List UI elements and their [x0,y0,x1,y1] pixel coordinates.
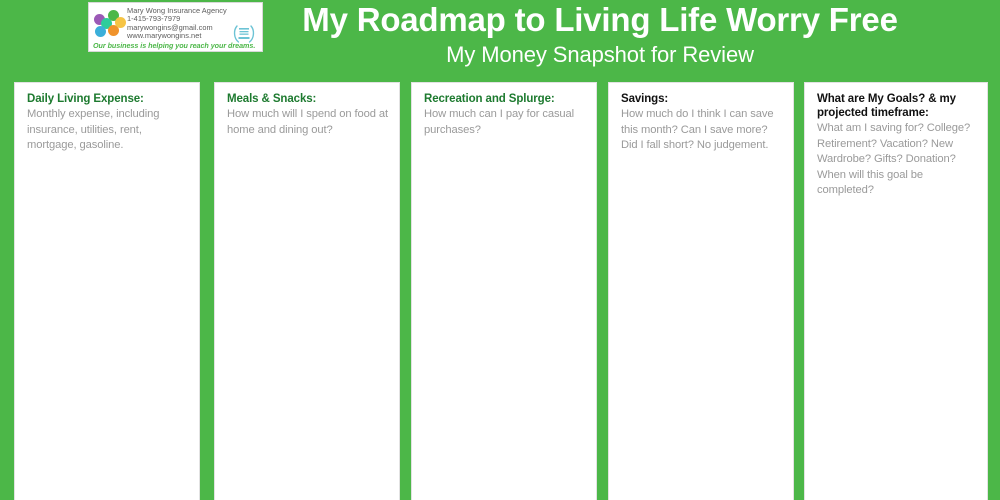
column-heading: Daily Living Expense: [27,92,189,106]
column-description: What am I saving for? College? Retiremen… [817,121,979,199]
column-heading: What are My Goals? & my projected timefr… [817,92,977,120]
column-description: How much do I think I can save this mont… [621,107,785,154]
column-description: Monthly expense, including insurance, ut… [27,107,191,154]
worksheet-columns: Daily Living Expense: Monthly expense, i… [0,78,1000,500]
column-meals-and-snacks[interactable]: Meals & Snacks: How much will I spend on… [214,82,400,500]
column-recreation-and-splurge[interactable]: Recreation and Splurge: How much can I p… [411,82,597,500]
column-description: How much will I spend on food at home an… [227,107,391,138]
page-header: Mary Wong Insurance Agency 1-415-793-797… [0,0,1000,78]
column-description: How much can I pay for casual purchases? [424,107,588,138]
page-title: My Roadmap to Living Life Worry Free [250,1,950,39]
agency-tagline: Our business is helping you reach your d… [93,41,261,50]
column-my-goals[interactable]: What are My Goals? & my projected timefr… [804,82,988,500]
column-heading: Meals & Snacks: [227,92,389,106]
logo-dot-blue [95,26,106,37]
page-subtitle: My Money Snapshot for Review [250,42,950,68]
column-heading: Recreation and Splurge: [424,92,586,106]
column-savings[interactable]: Savings: How much do I think I can save … [608,82,794,500]
agency-logo-card: Mary Wong Insurance Agency 1-415-793-797… [88,2,263,52]
column-heading: Savings: [621,92,783,106]
logo-dot-yellow [115,17,126,28]
column-daily-living-expense[interactable]: Daily Living Expense: Monthly expense, i… [14,82,200,500]
flower-logo-icon [94,10,124,40]
